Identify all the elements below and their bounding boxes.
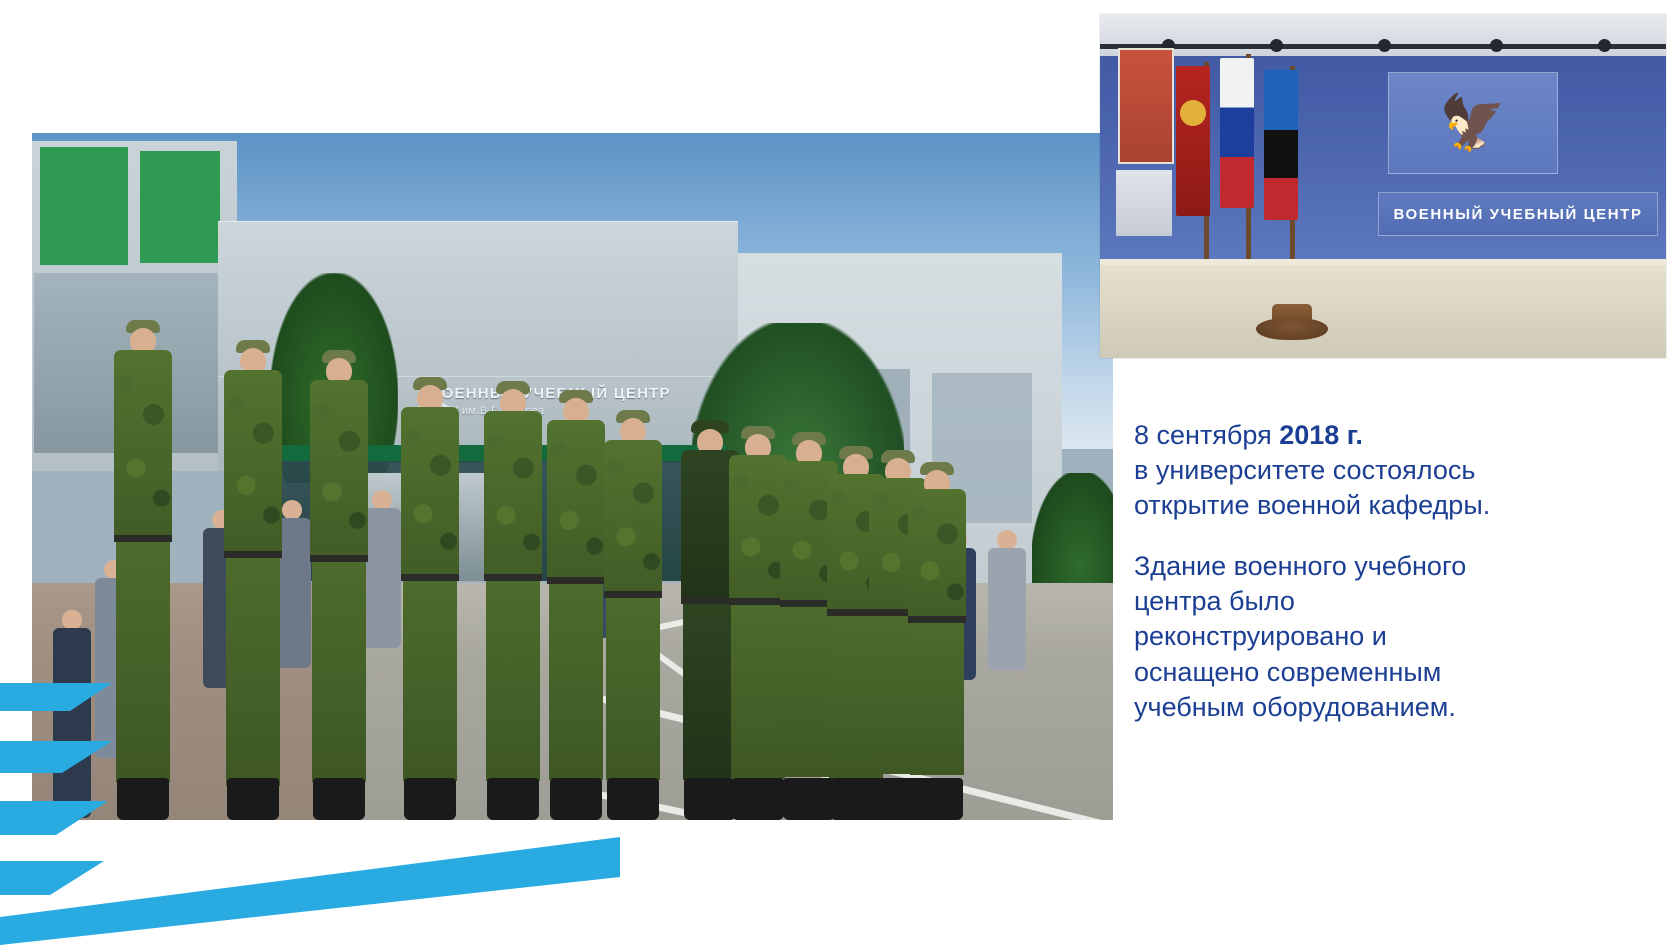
- flag-stand-base: [1256, 318, 1328, 340]
- main-photo: УК 6 ВОЕННЫЙ УЧЕБНЫЙ ЦЕНТР БГТУ им.В.Г. …: [32, 133, 1113, 820]
- text-panel: 8 сентября 2018 г. в университете состоя…: [1134, 418, 1650, 725]
- ceiling-lamp: [1270, 39, 1283, 52]
- paragraph2-line1: Здание военного учебного: [1134, 549, 1650, 584]
- green-panel: [140, 151, 220, 263]
- ceiling-lamp: [1490, 39, 1503, 52]
- flag-russia: [1220, 58, 1254, 208]
- ceiling-lamp: [1378, 39, 1391, 52]
- paragraph2-line4: оснащено современным: [1134, 655, 1650, 690]
- date-prefix: 8 сентября: [1134, 420, 1279, 450]
- slide-canvas: УК 6 ВОЕННЫЙ УЧЕБНЫЙ ЦЕНТР БГТУ им.В.Г. …: [0, 0, 1680, 945]
- paragraph2-line5: учебным оборудованием.: [1134, 690, 1650, 725]
- ribbon-band-large: [0, 835, 620, 945]
- paragraph1-line2: в университете состоялось: [1134, 453, 1650, 488]
- wall-sign-text: ВОЕННЫЙ УЧЕБНЫЙ ЦЕНТР: [1393, 206, 1642, 223]
- paragraph2-line3: реконструировано и: [1134, 619, 1650, 654]
- ribbon-stripe: [0, 861, 104, 895]
- wall-poster: [1118, 48, 1174, 164]
- ribbon-band-white: [0, 823, 620, 917]
- paragraph2-line2: центра было: [1134, 584, 1650, 619]
- floor: [1100, 265, 1666, 358]
- cadet: [296, 350, 382, 820]
- cadet: [388, 365, 472, 820]
- flag-regional: [1264, 70, 1298, 220]
- paragraph-reconstruction: Здание военного учебного центра было рек…: [1134, 549, 1650, 724]
- year-bold: 2018 г.: [1279, 420, 1363, 450]
- cadet: [906, 458, 968, 820]
- inset-photo: 🦅 ВОЕННЫЙ УЧЕБНЫЙ ЦЕНТР: [1100, 14, 1666, 358]
- paragraph1-line3: открытие военной кафедры.: [1134, 488, 1650, 523]
- ceiling-lamp: [1598, 39, 1611, 52]
- wall-sign: ВОЕННЫЙ УЧЕБНЫЙ ЦЕНТР: [1378, 192, 1658, 236]
- cadet: [208, 330, 298, 820]
- green-panel: [40, 147, 128, 265]
- paragraph-opening: 8 сентября 2018 г. в университете состоя…: [1134, 418, 1650, 523]
- bystander: [987, 530, 1027, 670]
- cadet: [594, 402, 672, 820]
- double-headed-eagle-icon: 🦅: [1439, 96, 1506, 150]
- emblem-panel: 🦅: [1388, 72, 1558, 174]
- cadet: [98, 320, 188, 820]
- wall-poster: [1116, 170, 1172, 236]
- flag-banner-red: [1176, 66, 1210, 216]
- paragraph1-line1: 8 сентября 2018 г.: [1134, 418, 1650, 453]
- bystander: [52, 610, 92, 820]
